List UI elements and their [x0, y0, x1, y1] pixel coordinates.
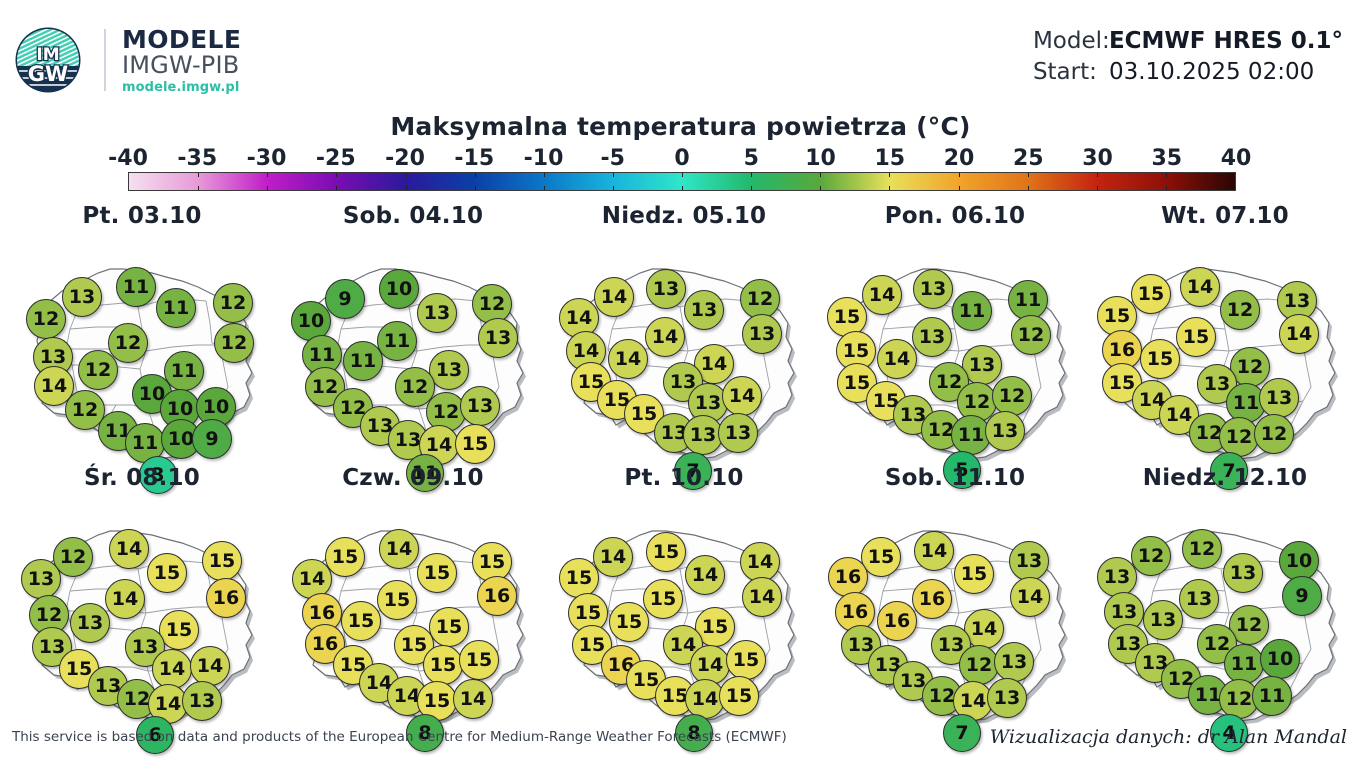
temperature-marker[interactable]: 12	[1011, 315, 1051, 355]
colorbar-tickmark	[336, 186, 337, 190]
colorbar-tickmark	[1166, 173, 1167, 177]
colorbar-tick-5: 5	[744, 146, 759, 171]
temperature-marker[interactable]: 13	[1143, 600, 1183, 640]
temperature-marker[interactable]: 13	[646, 269, 686, 309]
temperature-marker[interactable]: 14	[742, 577, 782, 617]
temperature-marker[interactable]: 13	[985, 411, 1025, 451]
poland-map: 910101312111113111312121212131313141511	[277, 237, 549, 463]
colorbar-tickmark	[475, 186, 476, 190]
temperature-marker[interactable]: 16	[206, 578, 246, 618]
temperature-marker[interactable]: 15	[341, 601, 381, 641]
colorbar-tickmark	[820, 186, 821, 190]
temperature-marker[interactable]: 15	[609, 602, 649, 642]
temperature-marker[interactable]: 12	[1219, 417, 1259, 457]
temperature-marker[interactable]: 13	[684, 290, 724, 330]
colorbar-tick--40: -40	[108, 146, 148, 171]
temperature-marker[interactable]: 14	[453, 679, 493, 719]
colorbar-tickmark	[267, 186, 268, 190]
temperature-marker[interactable]: 16	[828, 557, 868, 597]
temperature-marker[interactable]: 14	[594, 277, 634, 317]
colorbar-tickmark	[544, 186, 545, 190]
temperature-marker[interactable]: 12	[26, 299, 66, 339]
page-title: Maksymalna temperatura powietrza (°C)	[0, 112, 1361, 141]
temperature-marker[interactable]: 15	[646, 532, 686, 572]
colorbar-tickmark	[1097, 186, 1098, 190]
colorbar-tick--20: -20	[385, 146, 425, 171]
temperature-marker[interactable]: 12	[1220, 290, 1260, 330]
temperature-marker[interactable]: 13	[718, 413, 758, 453]
model-metadata: Model: ECMWF HRES 0.1° Start: 03.10.2025…	[1033, 28, 1343, 90]
temperature-marker[interactable]: 14	[379, 529, 419, 569]
colorbar-tickmark	[959, 186, 960, 190]
panel-date-label: Pt. 10.10	[548, 465, 820, 491]
temperature-marker[interactable]: 14	[105, 579, 145, 619]
colorbar-tick--10: -10	[524, 146, 564, 171]
poland-map: 151414151515161615151615151515141415148	[277, 499, 549, 725]
start-value: 03.10.2025 02:00	[1109, 59, 1314, 85]
temperature-marker[interactable]: 14	[152, 649, 192, 689]
colorbar-tickmark	[751, 173, 752, 177]
temperature-marker[interactable]: 13	[62, 277, 102, 317]
model-label: Model:	[1033, 28, 1109, 54]
colorbar: -40-35-30-25-20-15-10-50510152025303540	[128, 146, 1236, 191]
temperature-marker[interactable]: 14	[190, 646, 230, 686]
colorbar-tickmark	[198, 186, 199, 190]
temperature-marker[interactable]: 14	[862, 275, 902, 315]
temperature-marker[interactable]: 14	[685, 555, 725, 595]
colorbar-tick-30: 30	[1082, 146, 1113, 171]
temperature-marker[interactable]: 13	[70, 603, 110, 643]
temperature-marker[interactable]: 13	[429, 350, 469, 390]
temperature-marker[interactable]: 15	[325, 537, 365, 577]
forecast-panel-1: Pt. 03.101311121112121312121114101210101…	[6, 203, 278, 463]
temperature-marker[interactable]: 16	[877, 601, 917, 641]
temperature-marker[interactable]: 13	[21, 559, 61, 599]
temperature-marker[interactable]: 15	[726, 640, 766, 680]
page-header: IM GW MODELE IMGW-PIB modele.imgw.pl Mod…	[0, 0, 1361, 108]
temperature-marker[interactable]: 13	[1097, 557, 1137, 597]
temperature-marker[interactable]: 12	[1254, 414, 1294, 454]
colorbar-tickmark	[1028, 186, 1029, 190]
forecast-panel-9: Sob. 11.10151416151316161416141313131213…	[819, 465, 1091, 725]
temperature-marker[interactable]: 16	[912, 579, 952, 619]
temperature-marker[interactable]: 14	[1010, 577, 1050, 617]
temperature-marker[interactable]: 11	[1224, 644, 1264, 684]
temperature-marker[interactable]: 14	[1279, 314, 1319, 354]
poland-map: 12121313101313913121312131110121112114	[1089, 499, 1361, 725]
temperature-marker[interactable]: 11	[116, 267, 156, 307]
panel-date-label: Czw. 09.10	[277, 465, 549, 491]
start-label: Start:	[1033, 59, 1109, 85]
temperature-marker[interactable]: 13	[1009, 541, 1049, 581]
brand-url: modele.imgw.pl	[122, 81, 241, 94]
temperature-marker[interactable]: 13	[1223, 553, 1263, 593]
poland-map: 151416151316161416141313131213131214137	[819, 499, 1091, 725]
colorbar-tickmark	[889, 173, 890, 177]
temperature-marker[interactable]: 13	[417, 293, 457, 333]
brand-logo: IM GW MODELE IMGW-PIB modele.imgw.pl	[14, 26, 241, 94]
colorbar-tickmark	[1097, 173, 1098, 177]
colorbar-tickmark	[959, 173, 960, 177]
temperature-marker[interactable]: 10	[1279, 541, 1319, 581]
model-row: Model: ECMWF HRES 0.1°	[1033, 28, 1343, 59]
temperature-marker[interactable]: 9	[192, 419, 232, 459]
colorbar-tickmark	[1166, 186, 1167, 190]
colorbar-tickmark	[889, 186, 890, 190]
temperature-marker[interactable]: 11	[343, 341, 383, 381]
temperature-marker[interactable]: 12	[214, 323, 254, 363]
temperature-marker[interactable]: 15	[159, 610, 199, 650]
temperature-marker[interactable]: 12	[740, 279, 780, 319]
poland-map: 141314131214141314141513151314151313137	[548, 237, 820, 463]
colorbar-tickmark	[267, 173, 268, 177]
poland-map: 141515141415151415151514161415151514158	[548, 499, 820, 725]
temperature-marker[interactable]: 13	[987, 678, 1027, 718]
temperature-marker[interactable]: 12	[78, 350, 118, 390]
brand-line-modele: MODELE	[122, 27, 241, 52]
temperature-marker[interactable]: 13	[478, 318, 518, 358]
colorbar-tick--5: -5	[601, 146, 625, 171]
colorbar-tickmark	[682, 173, 683, 177]
temperature-marker[interactable]: 11	[156, 288, 196, 328]
poland-map: 151415121315161415121513141113141212127	[1089, 237, 1361, 463]
colorbar-gradient	[128, 172, 1236, 191]
colorbar-tickmark	[613, 186, 614, 190]
colorbar-tickmark	[544, 173, 545, 177]
forecast-panel-10: Niedz. 12.101212131310131391312131213111…	[1089, 465, 1361, 725]
colorbar-tickmark	[1028, 173, 1029, 177]
model-value: ECMWF HRES 0.1°	[1109, 28, 1343, 54]
colorbar-tickmark	[475, 173, 476, 177]
temperature-marker[interactable]: 14	[645, 317, 685, 357]
panel-date-label: Pon. 06.10	[819, 203, 1091, 229]
temperature-marker[interactable]: 15	[719, 676, 759, 716]
colorbar-tickmark	[613, 173, 614, 177]
temperature-marker[interactable]: 14	[109, 529, 149, 569]
temperature-marker[interactable]: 13	[742, 314, 782, 354]
colorbar-tick--35: -35	[177, 146, 217, 171]
colorbar-tick--15: -15	[454, 146, 494, 171]
temperature-marker[interactable]: 16	[477, 576, 517, 616]
logo-divider	[104, 29, 106, 91]
temperature-marker[interactable]: 11	[1008, 280, 1048, 320]
temperature-marker[interactable]: 14	[1180, 267, 1220, 307]
panel-date-label: Sob. 04.10	[277, 203, 549, 229]
temperature-marker[interactable]: 13	[182, 681, 222, 721]
panel-date-label: Niedz. 05.10	[548, 203, 820, 229]
temperature-marker[interactable]: 10	[379, 269, 419, 309]
start-row: Start: 03.10.2025 02:00	[1033, 59, 1343, 90]
forecast-panel-4: Pon. 06.10141315111113151214131512151212…	[819, 203, 1091, 463]
forecast-panel-7: Czw. 09.10151414151515161615151615151515…	[277, 465, 549, 725]
forecast-panel-8: Pt. 10.101415151414151514151515141614151…	[548, 465, 820, 725]
temperature-marker[interactable]: 15	[954, 554, 994, 594]
temperature-marker[interactable]: 15	[423, 645, 463, 685]
temperature-marker[interactable]: 15	[377, 580, 417, 620]
colorbar-tick-25: 25	[1013, 146, 1044, 171]
ecmwf-attribution: This service is based on data and produc…	[12, 729, 787, 745]
temperature-marker[interactable]: 13	[1259, 378, 1299, 418]
temperature-marker[interactable]: 15	[1140, 339, 1180, 379]
temperature-marker[interactable]: 13	[994, 642, 1034, 682]
colorbar-tick-15: 15	[874, 146, 905, 171]
temperature-marker[interactable]: 9	[325, 279, 365, 319]
temperature-marker[interactable]: 13	[912, 317, 952, 357]
peak-temperature-marker[interactable]: 7	[943, 714, 981, 752]
colorbar-tick-10: 10	[805, 146, 836, 171]
forecast-panel-5: Wt. 07.101514151213151614151215131411131…	[1089, 203, 1361, 463]
poland-map: 141315111113151214131512151212131211135	[819, 237, 1091, 463]
forecast-panel-2: Sob. 04.10910101312111113111312121212131…	[277, 203, 549, 463]
temperature-marker[interactable]: 15	[455, 424, 495, 464]
temperature-marker[interactable]: 11	[952, 291, 992, 331]
colorbar-tickmark	[198, 173, 199, 177]
svg-text:GW: GW	[28, 62, 68, 86]
temperature-marker[interactable]: 15	[559, 558, 599, 598]
temperature-marker[interactable]: 15	[429, 607, 469, 647]
colorbar-tick--30: -30	[247, 146, 287, 171]
temperature-marker[interactable]: 14	[593, 537, 633, 577]
colorbar-tickmark	[406, 186, 407, 190]
temperature-marker[interactable]: 15	[1131, 274, 1171, 314]
temperature-marker[interactable]: 12	[1131, 536, 1171, 576]
colorbar-tickmark	[820, 173, 821, 177]
temperature-marker[interactable]: 15	[147, 553, 187, 593]
panel-date-label: Niedz. 12.10	[1089, 465, 1361, 491]
temperature-marker[interactable]: 14	[877, 339, 917, 379]
forecast-panel-3: Niedz. 05.101413141312141413141415131513…	[548, 203, 820, 463]
author-credit: Wizualizacja danych: dr Alan Mandal	[990, 726, 1347, 748]
temperature-marker[interactable]: 13	[1179, 579, 1219, 619]
colorbar-tickmark	[682, 186, 683, 190]
temperature-marker[interactable]: 12	[959, 645, 999, 685]
temperature-marker[interactable]: 12	[1182, 529, 1222, 569]
colorbar-tick-labels: -40-35-30-25-20-15-10-50510152025303540	[128, 146, 1236, 172]
colorbar-tick-35: 35	[1151, 146, 1182, 171]
temperature-marker[interactable]: 11	[377, 321, 417, 361]
temperature-marker[interactable]: 11	[1252, 676, 1292, 716]
forecast-panel-6: Śr. 08.101214131515141216131513131514141…	[6, 465, 278, 725]
temperature-marker[interactable]: 14	[608, 339, 648, 379]
brand-line-imgw-pib: IMGW-PIB	[122, 53, 241, 77]
temperature-marker[interactable]: 14	[740, 542, 780, 582]
temperature-marker[interactable]: 15	[417, 553, 457, 593]
temperature-marker[interactable]: 15	[459, 640, 499, 680]
poland-map: 121413151514121613151313151414131214136	[6, 499, 278, 725]
colorbar-tickmark	[751, 186, 752, 190]
panel-date-label: Pt. 03.10	[6, 203, 278, 229]
colorbar-tickmark	[406, 173, 407, 177]
temperature-marker[interactable]: 15	[1176, 317, 1216, 357]
temperature-marker[interactable]: 12	[213, 283, 253, 323]
panel-date-label: Wt. 07.10	[1089, 203, 1361, 229]
colorbar-tick--25: -25	[316, 146, 356, 171]
panel-date-label: Sob. 11.10	[819, 465, 1091, 491]
colorbar-tick-40: 40	[1221, 146, 1252, 171]
temperature-marker[interactable]: 14	[914, 531, 954, 571]
colorbar-tick-0: 0	[674, 146, 689, 171]
colorbar-tick-20: 20	[944, 146, 975, 171]
temperature-marker[interactable]: 12	[992, 376, 1032, 416]
temperature-marker[interactable]: 10	[1260, 639, 1300, 679]
temperature-marker[interactable]: 15	[202, 541, 242, 581]
panel-date-label: Śr. 08.10	[6, 465, 278, 491]
temperature-marker[interactable]: 13	[683, 415, 723, 455]
temperature-marker[interactable]: 14	[722, 376, 762, 416]
forecast-panel-grid: Pt. 03.101311121112121312121114101210101…	[0, 203, 1361, 726]
imgw-circle-logo-icon: IM GW	[14, 26, 82, 94]
poland-map: 13111211121213121211141012101011111093	[6, 237, 278, 463]
temperature-marker[interactable]: 15	[643, 579, 683, 619]
temperature-marker[interactable]: 13	[913, 269, 953, 309]
temperature-marker[interactable]: 13	[460, 386, 500, 426]
temperature-marker[interactable]: 9	[1282, 576, 1322, 616]
colorbar-tickmark	[336, 173, 337, 177]
